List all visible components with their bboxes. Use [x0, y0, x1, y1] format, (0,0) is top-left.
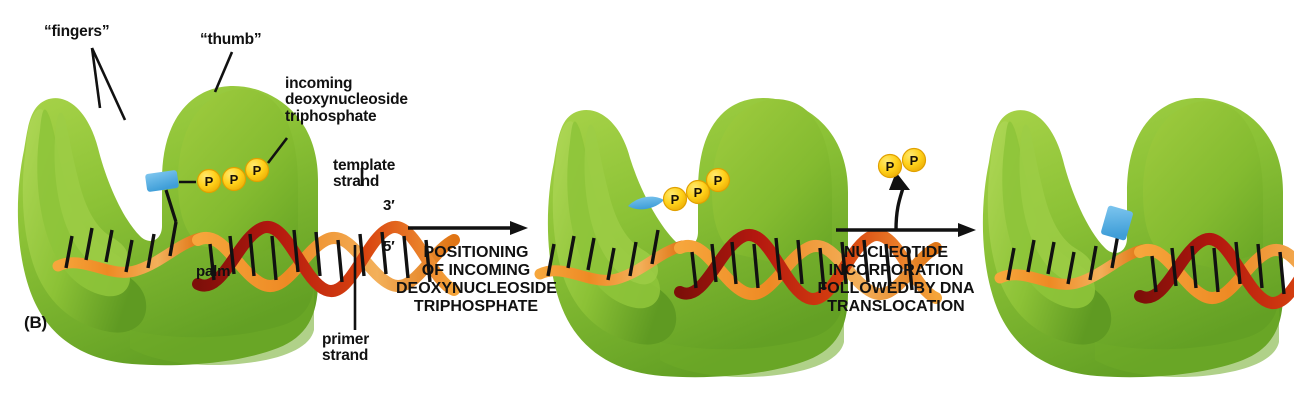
label-primer-strand: primer strand [322, 332, 369, 365]
svg-text:P: P [910, 153, 919, 168]
panel-right-artwork [983, 98, 1294, 377]
svg-text:P: P [694, 185, 703, 200]
panel-label: (B) [24, 314, 47, 332]
label-thumb: “thumb” [200, 32, 261, 48]
svg-text:P: P [230, 172, 239, 187]
svg-text:P: P [671, 192, 680, 207]
figure-artwork: P P P [0, 0, 1294, 400]
label-template-strand: template strand [333, 158, 395, 191]
svg-text:P: P [886, 159, 895, 174]
polymerase-body-right [983, 98, 1283, 377]
label-fingers: “fingers” [44, 24, 109, 40]
panel-middle-artwork: P P P [540, 98, 936, 377]
step-2-caption: NUCLEOTIDE INCORPORATION FOLLOWED BY DNA… [812, 244, 980, 316]
svg-text:P: P [714, 173, 723, 188]
label-five-prime: 5′ [383, 239, 395, 255]
released-pyrophosphate: P P [879, 149, 926, 178]
label-incoming-dntp: incoming deoxynucleoside triphosphate [285, 76, 408, 125]
svg-text:P: P [253, 163, 262, 178]
polymerase-body-middle [548, 98, 848, 377]
dna-polymerase-mechanism-figure: P P P [0, 0, 1294, 400]
label-three-prime: 3′ [383, 198, 395, 214]
step-1-caption: POSITIONING OF INCOMING DEOXYNUCLEOSIDE … [396, 244, 556, 316]
arrow-step-1 [408, 221, 528, 235]
label-palm: palm [196, 264, 230, 280]
arrow-step-2 [836, 172, 976, 237]
svg-text:P: P [205, 174, 214, 189]
